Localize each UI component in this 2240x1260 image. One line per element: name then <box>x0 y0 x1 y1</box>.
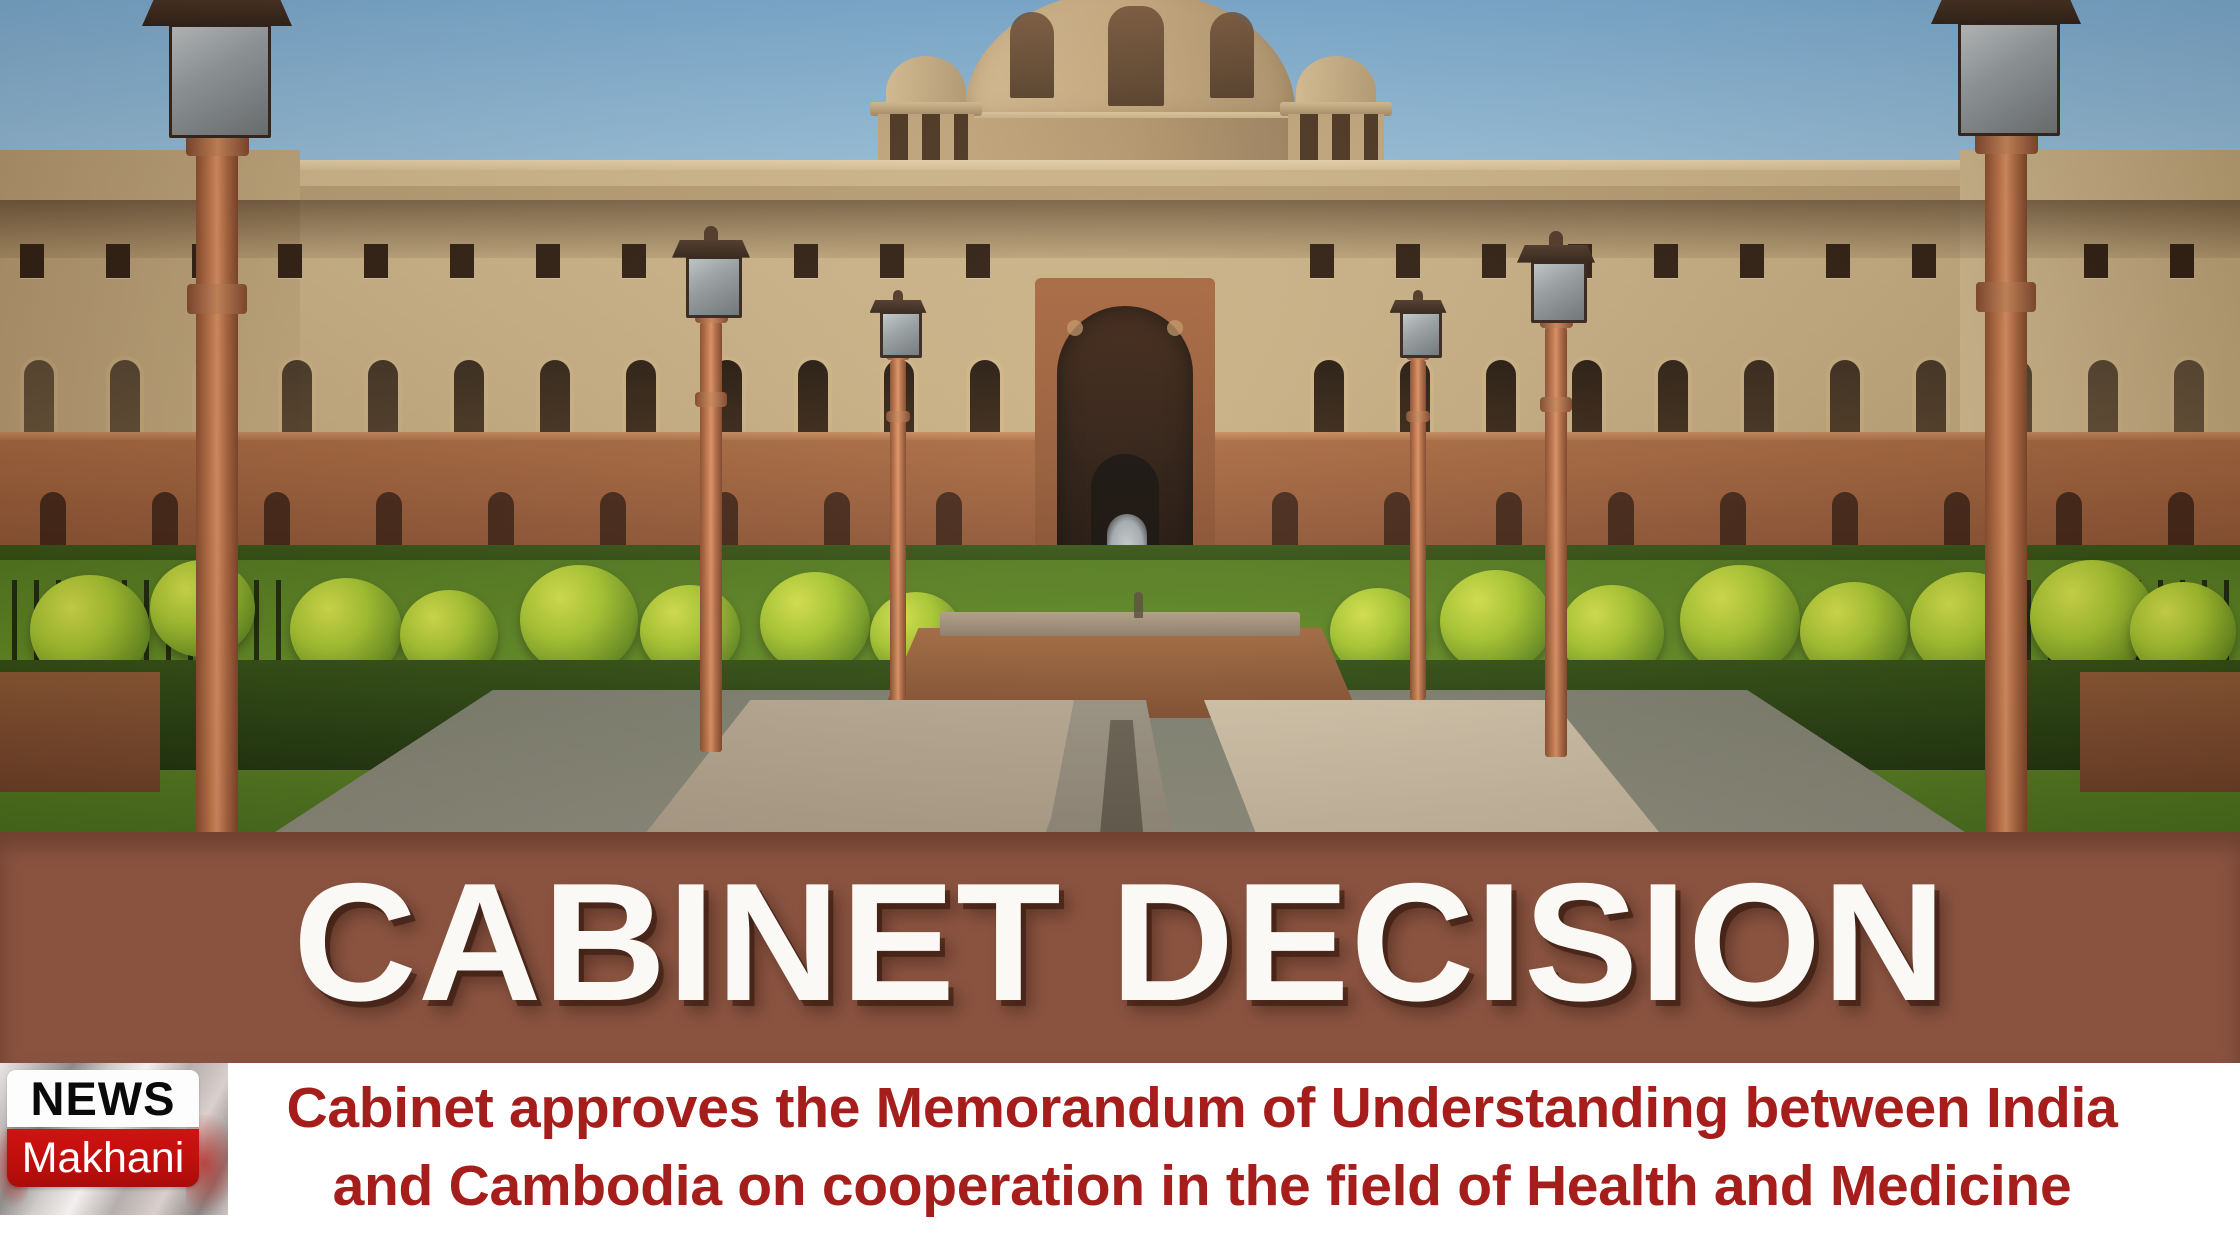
window-square <box>1826 244 1850 278</box>
lamp-shaft <box>1545 327 1567 757</box>
window-square <box>1740 244 1764 278</box>
lamp-shaft <box>1985 148 2027 938</box>
pedestrian-silhouette <box>1134 592 1143 618</box>
logo-makhani-text: Makhani <box>7 1129 199 1187</box>
lamp-glass <box>686 256 742 318</box>
logo-news-text: NEWS <box>7 1070 199 1127</box>
lamp-hood <box>672 240 750 258</box>
headline-text: Cabinet approves the Memorandum of Under… <box>260 1069 2144 1225</box>
lamp-glass <box>1958 22 2060 136</box>
lamp-finial <box>893 290 903 301</box>
lamp-shaft-knob <box>1976 282 2036 312</box>
dome-niche <box>1210 12 1254 98</box>
facade-parapet <box>0 186 2240 200</box>
chhatri-dome <box>1296 56 1376 106</box>
lamp-glass <box>1400 311 1442 358</box>
lamp-shaft <box>700 322 722 752</box>
lamp-shaft-knob <box>1540 397 1572 413</box>
news-makhani-logo[interactable]: NEWS Makhani <box>0 1063 228 1215</box>
window-square <box>622 244 646 278</box>
window-square <box>1912 244 1936 278</box>
gate-medallion <box>1067 320 1083 336</box>
lamp-finial <box>704 226 718 241</box>
headline-strip: Cabinet approves the Memorandum of Under… <box>0 1063 2240 1260</box>
dome-niche <box>1108 6 1164 106</box>
plinth-right <box>2080 672 2240 792</box>
window-square <box>1482 244 1506 278</box>
window-square <box>1654 244 1678 278</box>
window-square <box>794 244 818 278</box>
lamp-shaft-knob <box>695 392 727 408</box>
lamp-hood <box>1517 245 1595 263</box>
logo-news-plate: NEWS <box>7 1070 199 1127</box>
lamp-glass <box>880 311 922 358</box>
lamp-shaft <box>196 150 238 940</box>
window-square <box>20 244 44 278</box>
chhatri-dome <box>886 56 966 106</box>
window-square <box>880 244 904 278</box>
window-square <box>364 244 388 278</box>
terrace-step <box>940 612 1300 636</box>
window-square <box>966 244 990 278</box>
banner-title: CABINET DECISION <box>0 854 2240 1030</box>
cabinet-decision-banner: CABINET DECISION <box>0 832 2240 1063</box>
window-square <box>106 244 130 278</box>
logo-makhani-plate: Makhani <box>7 1129 199 1187</box>
window-square <box>2084 244 2108 278</box>
topiary-bush <box>1440 570 1552 673</box>
dome-niche <box>1010 12 1054 98</box>
window-square <box>536 244 560 278</box>
lamp-hood <box>1931 0 2081 24</box>
window-square <box>1396 244 1420 278</box>
gate-medallion <box>1167 320 1183 336</box>
lamp-hood <box>142 0 292 26</box>
lamp-hood <box>1390 300 1447 313</box>
lamp-shaft-knob <box>1406 411 1429 422</box>
window-square <box>2170 244 2194 278</box>
lamp-glass <box>169 24 271 138</box>
lamp-hood <box>870 300 927 313</box>
topiary-bush <box>520 565 638 674</box>
topiary-bush <box>760 572 870 673</box>
plinth-left <box>0 672 160 792</box>
lamp-shaft-knob <box>187 284 247 314</box>
news-card: CABINET DECISION Cabinet approves the Me… <box>0 0 2240 1260</box>
window-square <box>450 244 474 278</box>
lamp-finial <box>1549 231 1563 246</box>
lamp-finial <box>1413 290 1423 301</box>
topiary-bush <box>1680 565 1800 675</box>
window-square <box>278 244 302 278</box>
lamp-glass <box>1531 261 1587 323</box>
window-square <box>1310 244 1334 278</box>
lamp-shaft-knob <box>886 411 909 422</box>
